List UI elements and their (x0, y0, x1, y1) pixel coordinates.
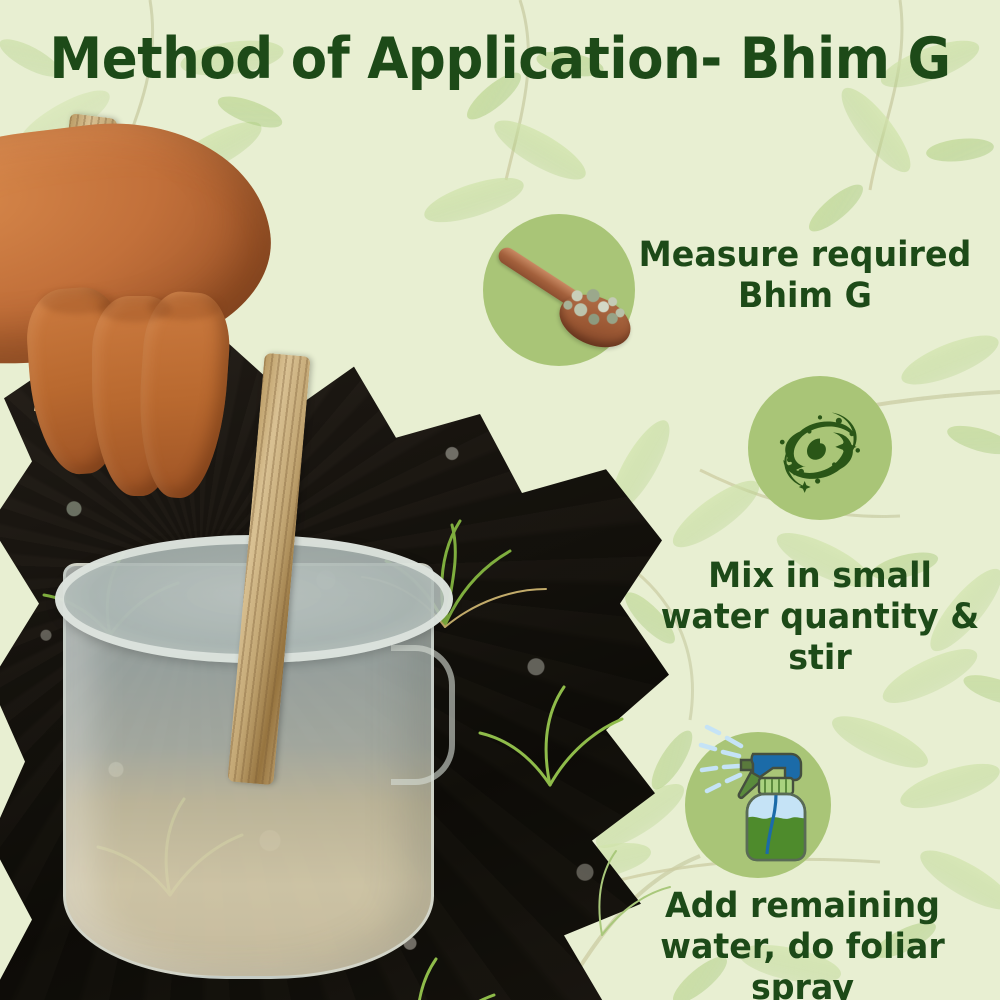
bucket-handle (391, 645, 455, 785)
step-3-line-2: water, do foliar spray (615, 927, 990, 1000)
step-3-icon-circle (685, 732, 831, 878)
step-1-line-2: Bhim G (629, 276, 981, 317)
step-2-line-3: stir (654, 638, 987, 679)
step-2-line-1: Mix in small (654, 556, 987, 597)
spray-droplets (701, 727, 741, 791)
hand-knuckle (148, 294, 222, 320)
step-2-label: Mix in small water quantity & stir (654, 556, 987, 679)
step-1-line-1: Measure required (629, 235, 981, 276)
poster-canvas: Method of Application- Bhim G (0, 0, 1000, 1000)
step-1-label: Measure required Bhim G (629, 235, 981, 317)
spray-bottle-icon (683, 720, 833, 870)
spoon-with-granules-icon (484, 215, 634, 365)
hand (0, 120, 320, 520)
galaxy-swirl-icon (761, 389, 879, 507)
step-2-icon-circle (748, 376, 892, 520)
page-title: Method of Application- Bhim G (35, 30, 965, 90)
step-3-label: Add remaining water, do foliar spray (615, 886, 990, 1000)
spray-liquid (747, 817, 805, 860)
step-3-line-1: Add remaining (615, 886, 990, 927)
step-1-icon-circle (483, 214, 635, 366)
step-2-line-2: water quantity & (654, 597, 987, 638)
